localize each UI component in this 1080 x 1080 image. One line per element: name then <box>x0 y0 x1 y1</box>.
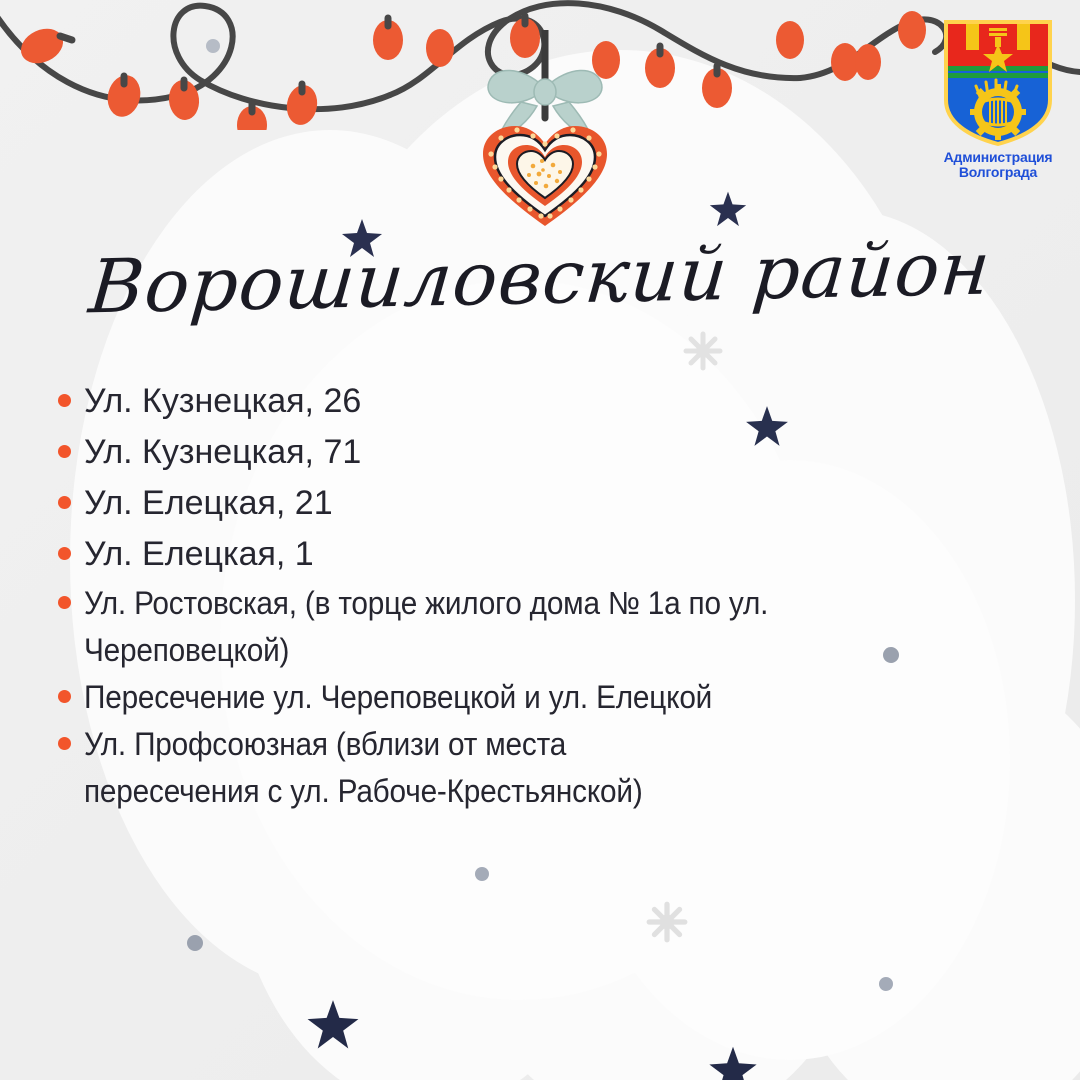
bullet-icon <box>58 496 71 509</box>
dot-decor <box>878 976 894 992</box>
list-item-label: Ул. Ростовская, (в торце жилого дома № 1… <box>84 580 804 674</box>
address-list: Ул. Кузнецкая, 26 Ул. Кузнецкая, 71 Ул. … <box>58 376 958 815</box>
list-item: Пересечение ул. Череповецкой и ул. Елецк… <box>58 674 958 721</box>
list-item-label: Ул. Елецкая, 21 <box>84 478 333 528</box>
star-icon <box>707 1042 759 1080</box>
list-item-label: Пересечение ул. Череповецкой и ул. Елецк… <box>84 674 712 721</box>
list-item: Ул. Елецкая, 1 <box>58 529 958 579</box>
volgograd-crest: Администрация Волгограда <box>928 14 1068 194</box>
list-item-label: Ул. Кузнецкая, 71 <box>84 427 361 477</box>
list-item: Ул. Кузнецкая, 71 <box>58 427 958 477</box>
bullet-icon <box>58 445 71 458</box>
list-item: Ул. Ростовская, (в торце жилого дома № 1… <box>58 580 858 674</box>
crest-caption: Администрация Волгограда <box>944 150 1053 180</box>
list-item-label: Ул. Профсоюзная (вблизи от места пересеч… <box>84 721 729 815</box>
dot-decor <box>205 38 221 54</box>
crest-caption-line2: Волгограда <box>944 165 1053 180</box>
bullet-icon <box>58 737 71 750</box>
poster-canvas: Администрация Волгограда Ворошиловский р… <box>0 0 1080 1080</box>
dot-decor <box>186 934 204 952</box>
list-item: Ул. Кузнецкая, 26 <box>58 376 958 426</box>
snowflake-icon <box>682 330 724 372</box>
list-item: Ул. Профсоюзная (вблизи от места пересеч… <box>58 721 778 815</box>
list-item: Ул. Елецкая, 21 <box>58 478 958 528</box>
snowflake-icon <box>645 900 689 944</box>
list-item-label: Ул. Елецкая, 1 <box>84 529 314 579</box>
crest-caption-line1: Администрация <box>944 150 1053 165</box>
list-item-label: Ул. Кузнецкая, 26 <box>84 376 361 426</box>
heart-ornament-icon <box>455 30 635 230</box>
star-icon <box>305 995 361 1051</box>
bullet-icon <box>58 690 71 703</box>
star-icon <box>708 188 748 228</box>
dot-decor <box>474 866 490 882</box>
bullet-icon <box>58 596 71 609</box>
bullet-icon <box>58 394 71 407</box>
coat-of-arms-icon <box>938 14 1058 146</box>
bullet-icon <box>58 547 71 560</box>
